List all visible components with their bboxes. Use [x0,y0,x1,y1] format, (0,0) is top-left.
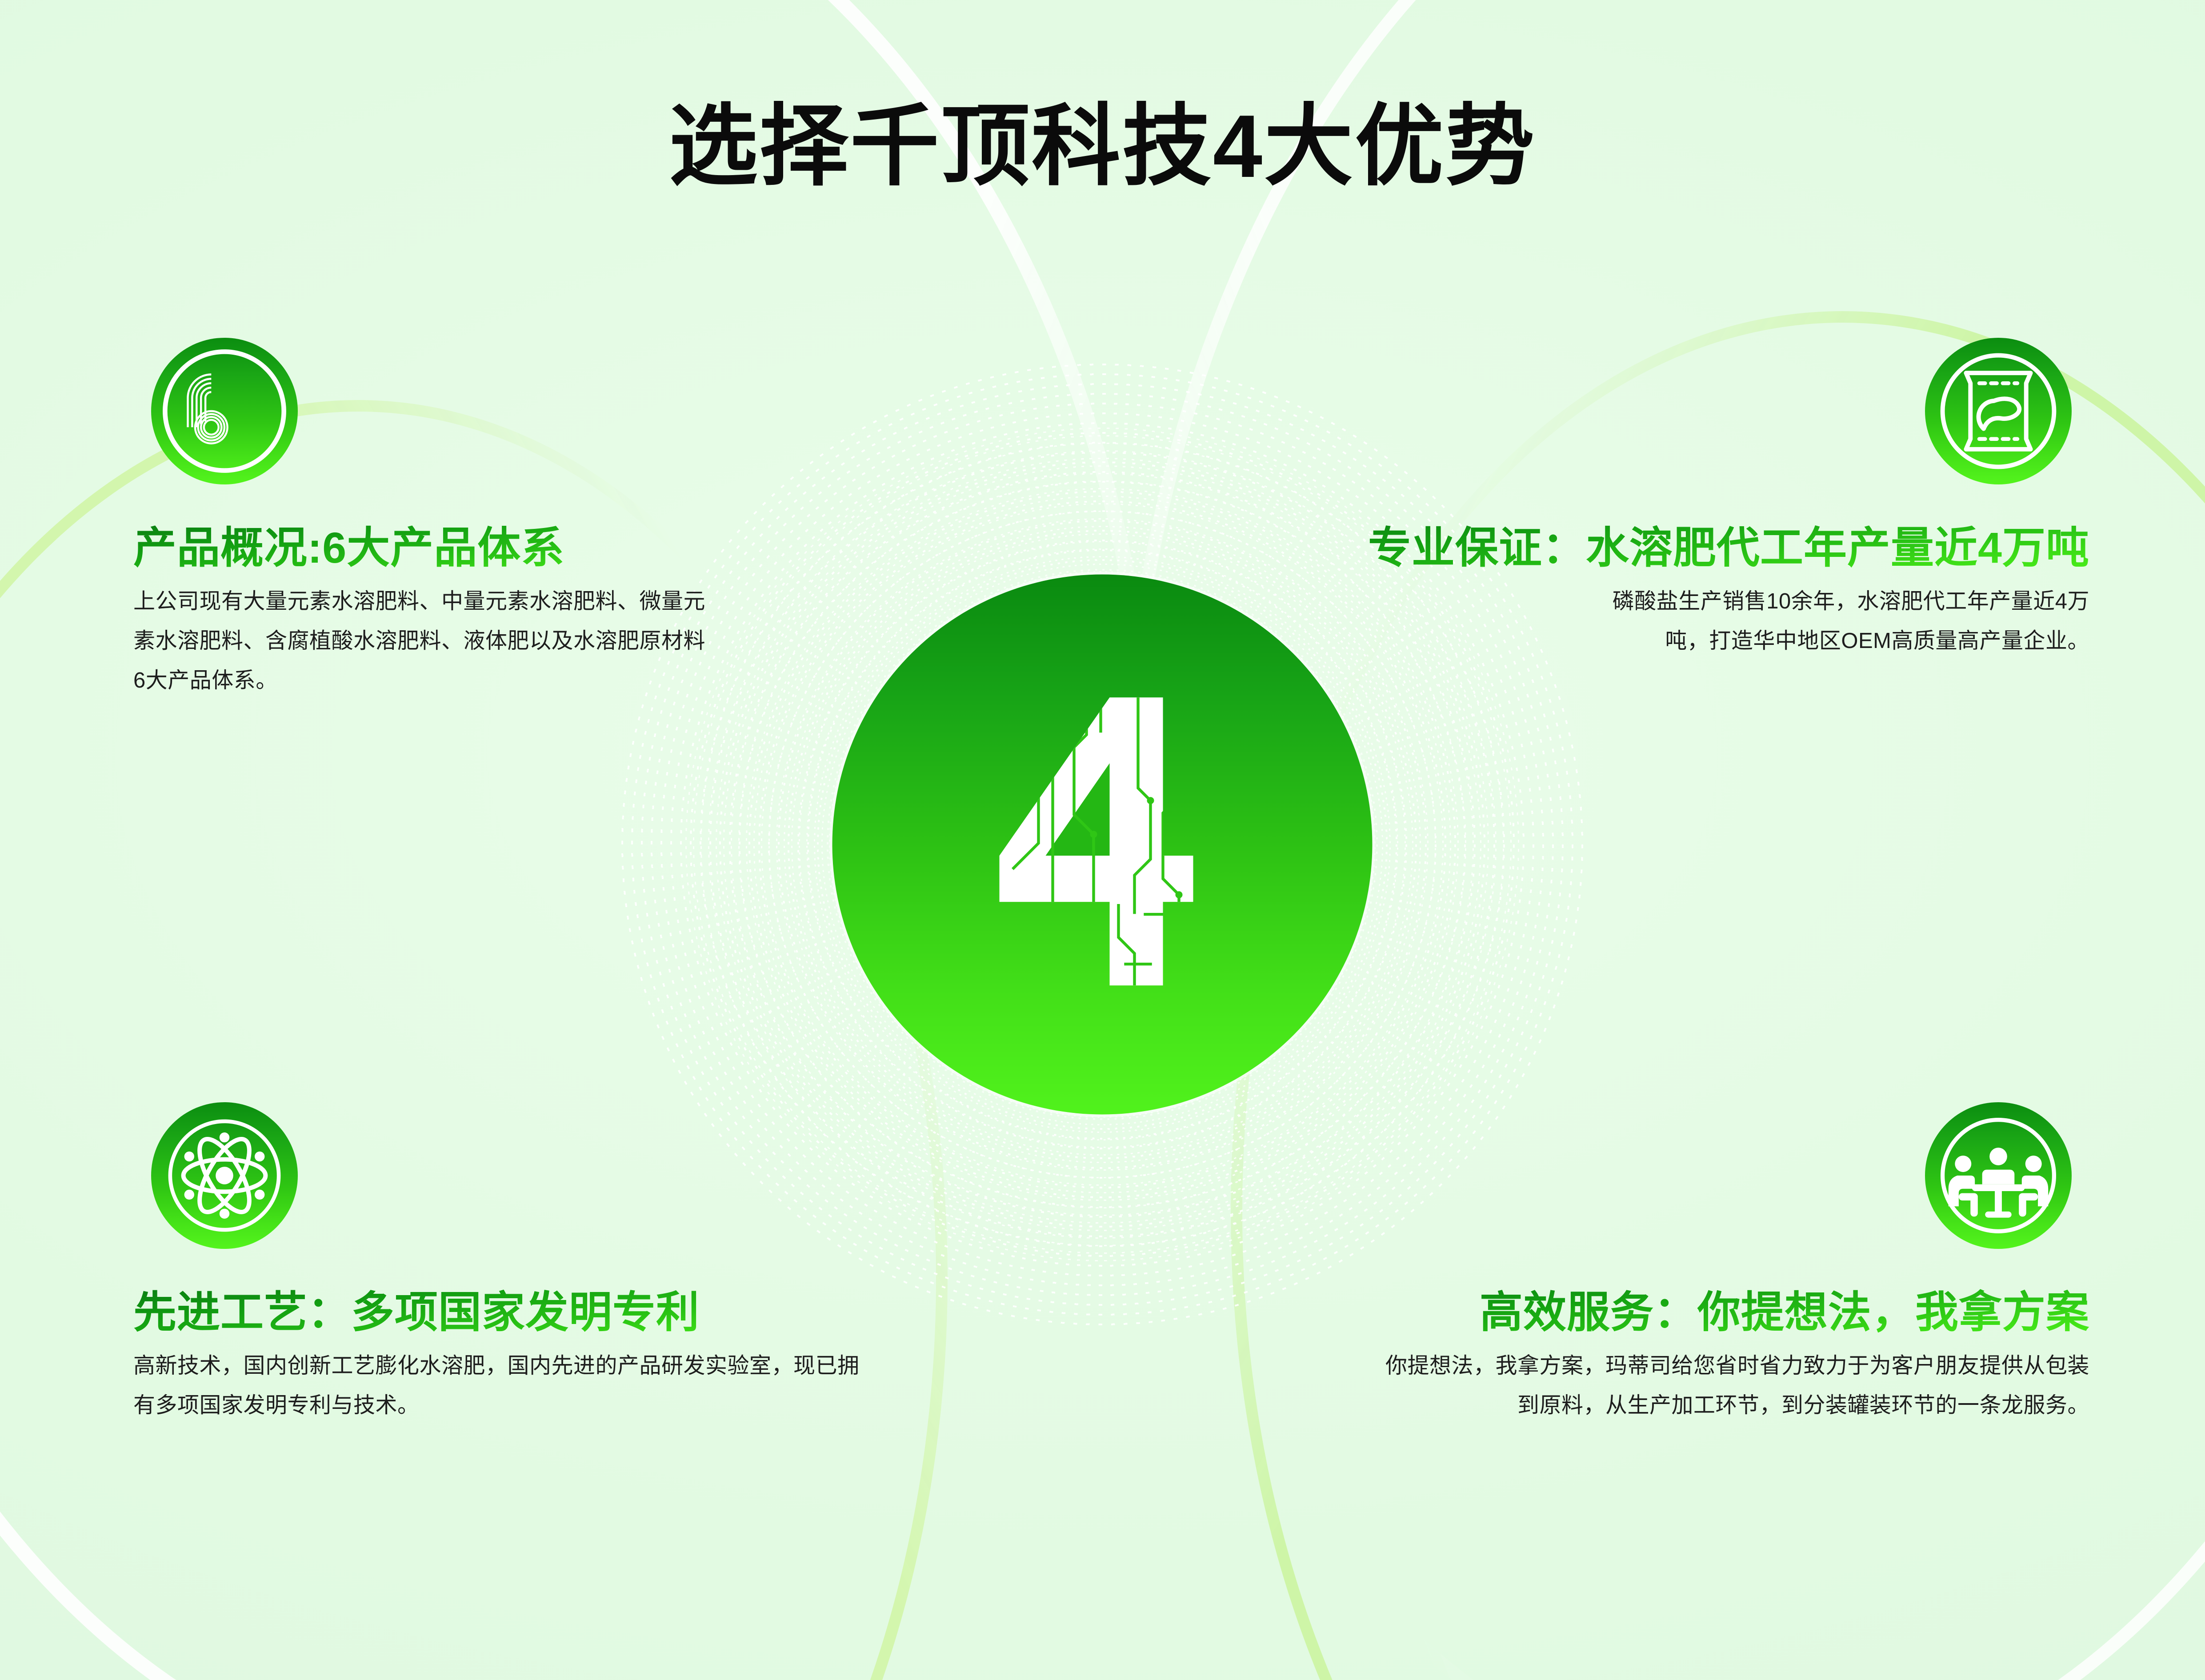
feature-block-top-left: 产品概况:6大产品体系 上公司现有大量元素水溶肥料、中量元素水溶肥料、微量元素水… [133,338,729,700]
number-four-circuit-icon [960,679,1245,1004]
page-title: 选择千顶科技4大优势 [0,102,2205,191]
fertilizer-bag-icon [1925,338,2072,484]
feature-title: 先进工艺：多项国家发明专利 [133,1289,889,1336]
feature-title: 高效服务：你提想法，我拿方案 [1316,1289,2089,1336]
atom-icon [151,1102,298,1249]
feature-block-bottom-left: 先进工艺：多项国家发明专利 高新技术，国内创新工艺膨化水溶肥，国内先进的产品研发… [133,1102,889,1425]
infographic-stage: 选择千顶科技4大优势 [0,0,2205,1680]
feature-body: 磷酸盐生产销售10余年，水溶肥代工年产量近4万吨，打造华中地区OEM高质量高产量… [1587,582,2089,661]
feature-title: 专业保证：水溶肥代工年产量近4万吨 [1223,524,2089,572]
feature-body: 你提想法，我拿方案，玛蒂司给您省时省力致力于为客户朋友提供从包装到原料，从生产加… [1369,1346,2089,1425]
feature-body: 上公司现有大量元素水溶肥料、中量元素水溶肥料、微量元素水溶肥料、含腐植酸水溶肥料… [133,582,707,701]
feature-body: 高新技术，国内创新工艺膨化水溶肥，国内先进的产品研发实验室，现已拥有多项国家发明… [133,1346,862,1425]
feature-title: 产品概况:6大产品体系 [133,524,729,572]
feature-block-top-right: 专业保证：水溶肥代工年产量近4万吨 磷酸盐生产销售10余年，水溶肥代工年产量近4… [1223,338,2089,661]
meeting-team-icon [1925,1102,2072,1249]
feature-block-bottom-right: 高效服务：你提想法，我拿方案 你提想法，我拿方案，玛蒂司给您省时省力致力于为客户… [1316,1102,2089,1425]
number-six-rings-icon [151,338,298,484]
